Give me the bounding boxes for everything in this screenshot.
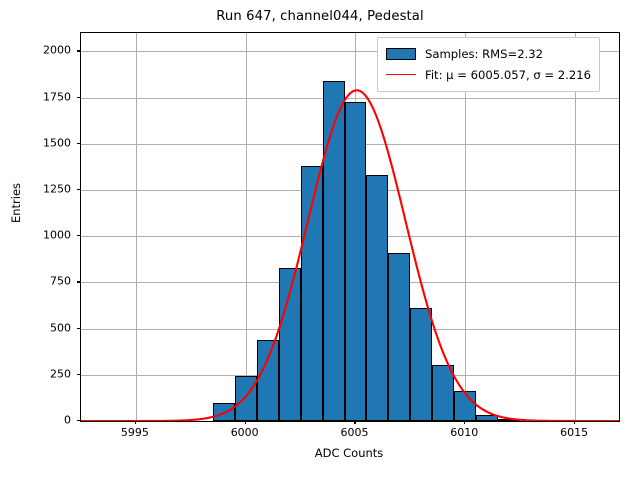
x-tick-label: 6005: [314, 426, 394, 439]
y-tick-label: 250: [1, 367, 71, 380]
chart-legend: Samples: RMS=2.32 Fit: μ = 6005.057, σ =…: [377, 37, 600, 92]
y-tick-label: 1250: [1, 183, 71, 196]
y-tick-label: 750: [1, 275, 71, 288]
y-tick-label: 2000: [1, 44, 71, 57]
figure-canvas: Run 647, channel044, Pedestal Entries AD…: [0, 0, 640, 480]
legend-line-icon: [386, 69, 416, 81]
x-axis-label: ADC Counts: [80, 446, 618, 460]
x-tick-label: 6010: [424, 426, 504, 439]
y-tick-label: 1750: [1, 90, 71, 103]
legend-label-fit: Fit: μ = 6005.057, σ = 2.216: [425, 68, 591, 82]
x-tick-label: 6000: [205, 426, 285, 439]
x-tick-label: 5995: [95, 426, 175, 439]
legend-label-samples: Samples: RMS=2.32: [425, 47, 543, 61]
chart-title: Run 647, channel044, Pedestal: [0, 9, 640, 24]
y-tick-label: 0: [1, 414, 71, 427]
y-tick-label: 500: [1, 321, 71, 334]
y-axis-tick-labels: 025050075010001250150017502000: [0, 0, 71, 480]
x-tick-label: 6015: [534, 426, 614, 439]
y-tick-label: 1000: [1, 229, 71, 242]
legend-patch-icon: [386, 48, 416, 60]
legend-entry-samples: Samples: RMS=2.32: [386, 43, 591, 64]
y-tick-label: 1500: [1, 136, 71, 149]
legend-entry-fit: Fit: μ = 6005.057, σ = 2.216: [386, 64, 591, 85]
fit-path: [81, 90, 619, 421]
